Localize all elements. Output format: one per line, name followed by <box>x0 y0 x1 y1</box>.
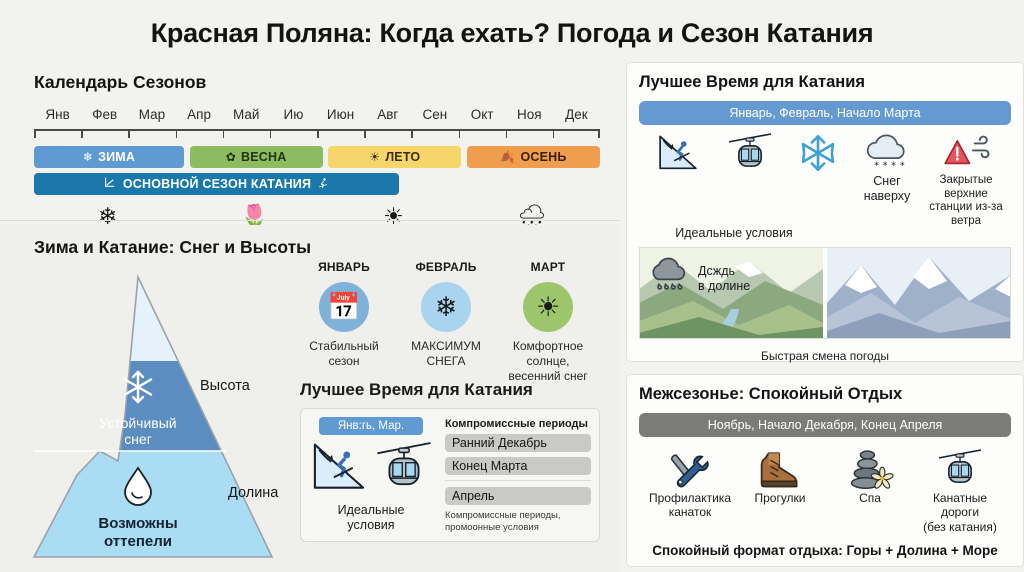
calendar-icon: 📅 <box>319 282 369 332</box>
spa-icon <box>825 449 915 489</box>
tools-icon <box>645 449 735 489</box>
boot-icon <box>735 449 825 489</box>
month-label-8: Авг <box>377 107 398 122</box>
compromise-pane: Компромиссные периоды Ранний ДекабрьКоне… <box>441 409 599 541</box>
month-card-title: МАРТ <box>500 260 596 274</box>
best-time-left-heading: Лучшее Время для Катания <box>300 380 600 400</box>
condition-snow-top-label: Снег наверху <box>851 174 923 204</box>
best-riding-heading: Лучшее Время для Катания <box>639 73 1011 92</box>
svg-text:*: * <box>891 160 896 171</box>
ski-slope-icon <box>641 135 715 171</box>
season-bar-осень[interactable]: 🍂ОСЕНЬ <box>467 146 600 168</box>
month-label-1: Янв <box>45 107 69 122</box>
best-time-badge: Янв:гь, Мар. <box>319 417 423 435</box>
month-card-2[interactable]: ФЕВРАЛЬ❄МАКСИМУМ СНЕГА <box>398 260 494 384</box>
mountain-upper-line2: снег <box>124 431 152 447</box>
left-column: Календарь Сезонов ЯнвФевМарАпрМайИюИюнАв… <box>0 62 620 572</box>
mountain-peak-label: Высота <box>200 378 251 394</box>
offseason-heading: Межсезонье: Спокойный Отдых <box>639 385 1011 404</box>
svg-text:*: * <box>874 160 879 171</box>
axis-tick <box>506 129 508 138</box>
flower-icon: ✿ <box>226 150 236 164</box>
month-label-5: Май <box>233 107 259 122</box>
season-bar-зима[interactable]: ❄ЗИМА <box>34 146 184 168</box>
axis-tick <box>364 129 366 138</box>
best-time-caption: Идеальные условия <box>301 503 441 533</box>
winter-heading: Зима и Катание: Снег и Высоты <box>34 237 311 258</box>
month-card-1[interactable]: ЯНВАРЬ📅Стабильный сезон <box>296 260 392 384</box>
gondola-icon <box>374 439 434 500</box>
condition-gondola <box>715 135 785 171</box>
season-bar-label: ВЕСНА <box>241 150 286 164</box>
axis-tick <box>598 129 600 138</box>
offseason-card: Межсезонье: Спокойный Отдых Ноябрь, Нача… <box>626 374 1024 567</box>
axis-tick <box>176 129 178 138</box>
month-label-10: Окт <box>471 107 494 122</box>
compromise-heading: Компромиссные периоды <box>445 418 591 430</box>
month-label-11: Ноя <box>517 107 542 122</box>
axis-tick <box>223 129 225 138</box>
month-card-title: ФЕВРАЛЬ <box>398 260 494 274</box>
mountain-lower-line2: оттепели <box>104 533 172 550</box>
gondola-icon <box>715 135 785 171</box>
svg-text:*: * <box>883 160 888 171</box>
rain-valley-label: Дсждь в долине <box>698 264 750 294</box>
condition-wind-closure: Закрытые верхние станции из-за ветра <box>923 135 1009 228</box>
best-time-icons <box>301 439 441 500</box>
snowflake-icon: ❄ <box>421 282 471 332</box>
month-label-4: Апр <box>187 107 211 122</box>
compromise-list: Ранний ДекабрьКонец Марта <box>445 434 591 475</box>
skier-icon <box>317 177 329 192</box>
compromise-divider <box>445 480 591 481</box>
offseason-item-spa-label: Спа <box>825 491 915 505</box>
month-card-3[interactable]: МАРТ☀Комфортное солнце, весенний снег <box>500 260 596 384</box>
offseason-item-walks-label: Прогулки <box>735 491 825 505</box>
season-bar-label: ОСЕНЬ <box>521 150 567 164</box>
condition-snow-top: **** Снег наверху <box>851 135 923 204</box>
sun-icon: ☀ <box>369 150 380 164</box>
gondola-icon <box>915 449 1005 489</box>
right-column: Лучшее Время для Катания Январь, Февраль… <box>626 62 1024 567</box>
axis-tick <box>459 129 461 138</box>
offseason-item-walks: Прогулки <box>735 449 825 534</box>
svg-text:*: * <box>900 160 905 171</box>
axis-tick <box>317 129 319 138</box>
leaf-icon: 🍂 <box>500 150 515 164</box>
winter-month-cards: ЯНВАРЬ📅Стабильный сезонФЕВРАЛЬ❄МАКСИМУМ … <box>296 260 596 384</box>
season-bar-label: ЗИМА <box>98 150 135 164</box>
seasons-calendar-block: Календарь Сезонов ЯнвФевМарАпрМайИюИюнАв… <box>34 72 600 243</box>
month-card-desc: Комфортное солнце, весенний снег <box>500 339 596 384</box>
mountain-diagram: Устойчивый снег Возможны оттепели Высота… <box>22 265 292 565</box>
month-card-desc: МАКСИМУМ СНЕГА <box>398 339 494 369</box>
weather-scenes: Дсждь в долине Быстрая смена погоды <box>639 247 1011 363</box>
month-card-title: ЯНВАРЬ <box>296 260 392 274</box>
season-bar-label: ЛЕТО <box>385 150 420 164</box>
mountain-valley-label: Долина <box>228 485 279 501</box>
seasons-calendar-heading: Календарь Сезонов <box>34 72 600 93</box>
axis-tick <box>553 129 555 138</box>
mountain-upper-line1: Устойчивый <box>99 415 176 431</box>
month-label-6: Ию <box>283 107 303 122</box>
month-label-7: Июн <box>327 107 354 122</box>
axis-tick <box>411 129 413 138</box>
axis-tick <box>81 129 83 138</box>
calendar-axis <box>34 129 600 140</box>
condition-wind-closure-label: Закрытые верхние станции из-за ветра <box>923 174 1009 228</box>
offseason-items-row: Профилактика канаток Прогулки <box>639 447 1011 534</box>
ski-season-row: ОСНОВНОЙ СЕЗОН КАТАНИЯ <box>34 173 600 195</box>
snowflake-icon: ❄ <box>83 150 93 164</box>
winter-section: Зима и Катание: Снег и Высоты <box>0 225 620 572</box>
month-label-2: Фев <box>92 107 117 122</box>
offseason-footer: Спокойный формат отдыха: Горы + Долина +… <box>639 543 1011 558</box>
best-time-ideal-pane: Янв:гь, Мар. <box>301 409 441 541</box>
sun-icon: ☀ <box>523 282 573 332</box>
month-card-desc: Стабильный сезон <box>296 339 392 369</box>
month-label-3: Мар <box>139 107 165 122</box>
best-riding-card: Лучшее Время для Катания Январь, Февраль… <box>626 62 1024 362</box>
offseason-item-maintenance: Профилактика канаток <box>645 449 735 534</box>
best-riding-period-pill: Январь, Февраль, Начало Марта <box>639 101 1011 125</box>
offseason-item-ropeways-label: Канатные дороги (без катания) <box>915 491 1005 534</box>
ski-season-bar: ОСНОВНОЙ СЕЗОН КАТАНИЯ <box>34 173 399 195</box>
infographic-page: Красная Поляна: Когда ехать? Погода и Се… <box>0 0 1024 572</box>
snow-cloud-icon: **** <box>851 135 923 171</box>
ski-slope-icon <box>104 176 117 192</box>
rain-cloud-icon <box>647 255 691 302</box>
offseason-period-pill: Ноябрь, Начало Декабря, Конец Апреля <box>639 413 1011 437</box>
compromise-note: Компромиссные периоды, промоонные услови… <box>445 510 591 535</box>
offseason-item-spa: Спа <box>825 449 915 534</box>
axis-tick <box>34 129 36 138</box>
season-bars-row: ❄ЗИМА✿ВЕСНА☀ЛЕТО🍂ОСЕНЬ <box>34 146 600 168</box>
month-labels-row: ЯнвФевМарАпрМайИюИюнАвгСенОктНояДек <box>34 107 600 127</box>
condition-snowflake <box>785 135 851 171</box>
month-label-12: Дек <box>565 107 588 122</box>
ski-season-label: ОСНОВНОЙ СЕЗОН КАТАНИЯ <box>123 177 311 191</box>
ski-slope-icon <box>308 439 370 500</box>
month-label-9: Сен <box>423 107 448 122</box>
axis-tick <box>270 129 272 138</box>
page-title: Красная Поляна: Когда ехать? Погода и Се… <box>0 18 1024 49</box>
offseason-item-maintenance-label: Профилактика канаток <box>645 491 735 520</box>
axis-tick <box>128 129 130 138</box>
scene-caption: Быстрая смена погоды <box>639 349 1011 363</box>
wind-warning-icon <box>923 135 1009 171</box>
offseason-item-ropeways: Канатные дороги (без катания) <box>915 449 1005 534</box>
compromise-item[interactable]: Конец Марта <box>445 457 591 475</box>
best-time-card: Янв:гь, Мар. <box>300 408 600 542</box>
season-bar-лето[interactable]: ☀ЛЕТО <box>328 146 461 168</box>
section-divider <box>0 220 620 221</box>
best-time-left-block: Лучшее Время для Катания Янв:гь, Мар. <box>300 380 600 542</box>
mountain-lower-line1: Возможны <box>98 515 177 532</box>
season-bar-весна[interactable]: ✿ВЕСНА <box>190 146 323 168</box>
compromise-extra-item[interactable]: Апрель <box>445 487 591 505</box>
condition-ideal-label: Идеальные условия <box>639 226 829 241</box>
rain-valley-overlay: Дсждь в долине <box>647 255 750 302</box>
compromise-item[interactable]: Ранний Декабрь <box>445 434 591 452</box>
condition-ideal <box>641 135 715 171</box>
conditions-row: **** Снег наверху <box>639 135 1011 228</box>
snowflake-icon <box>785 135 851 171</box>
